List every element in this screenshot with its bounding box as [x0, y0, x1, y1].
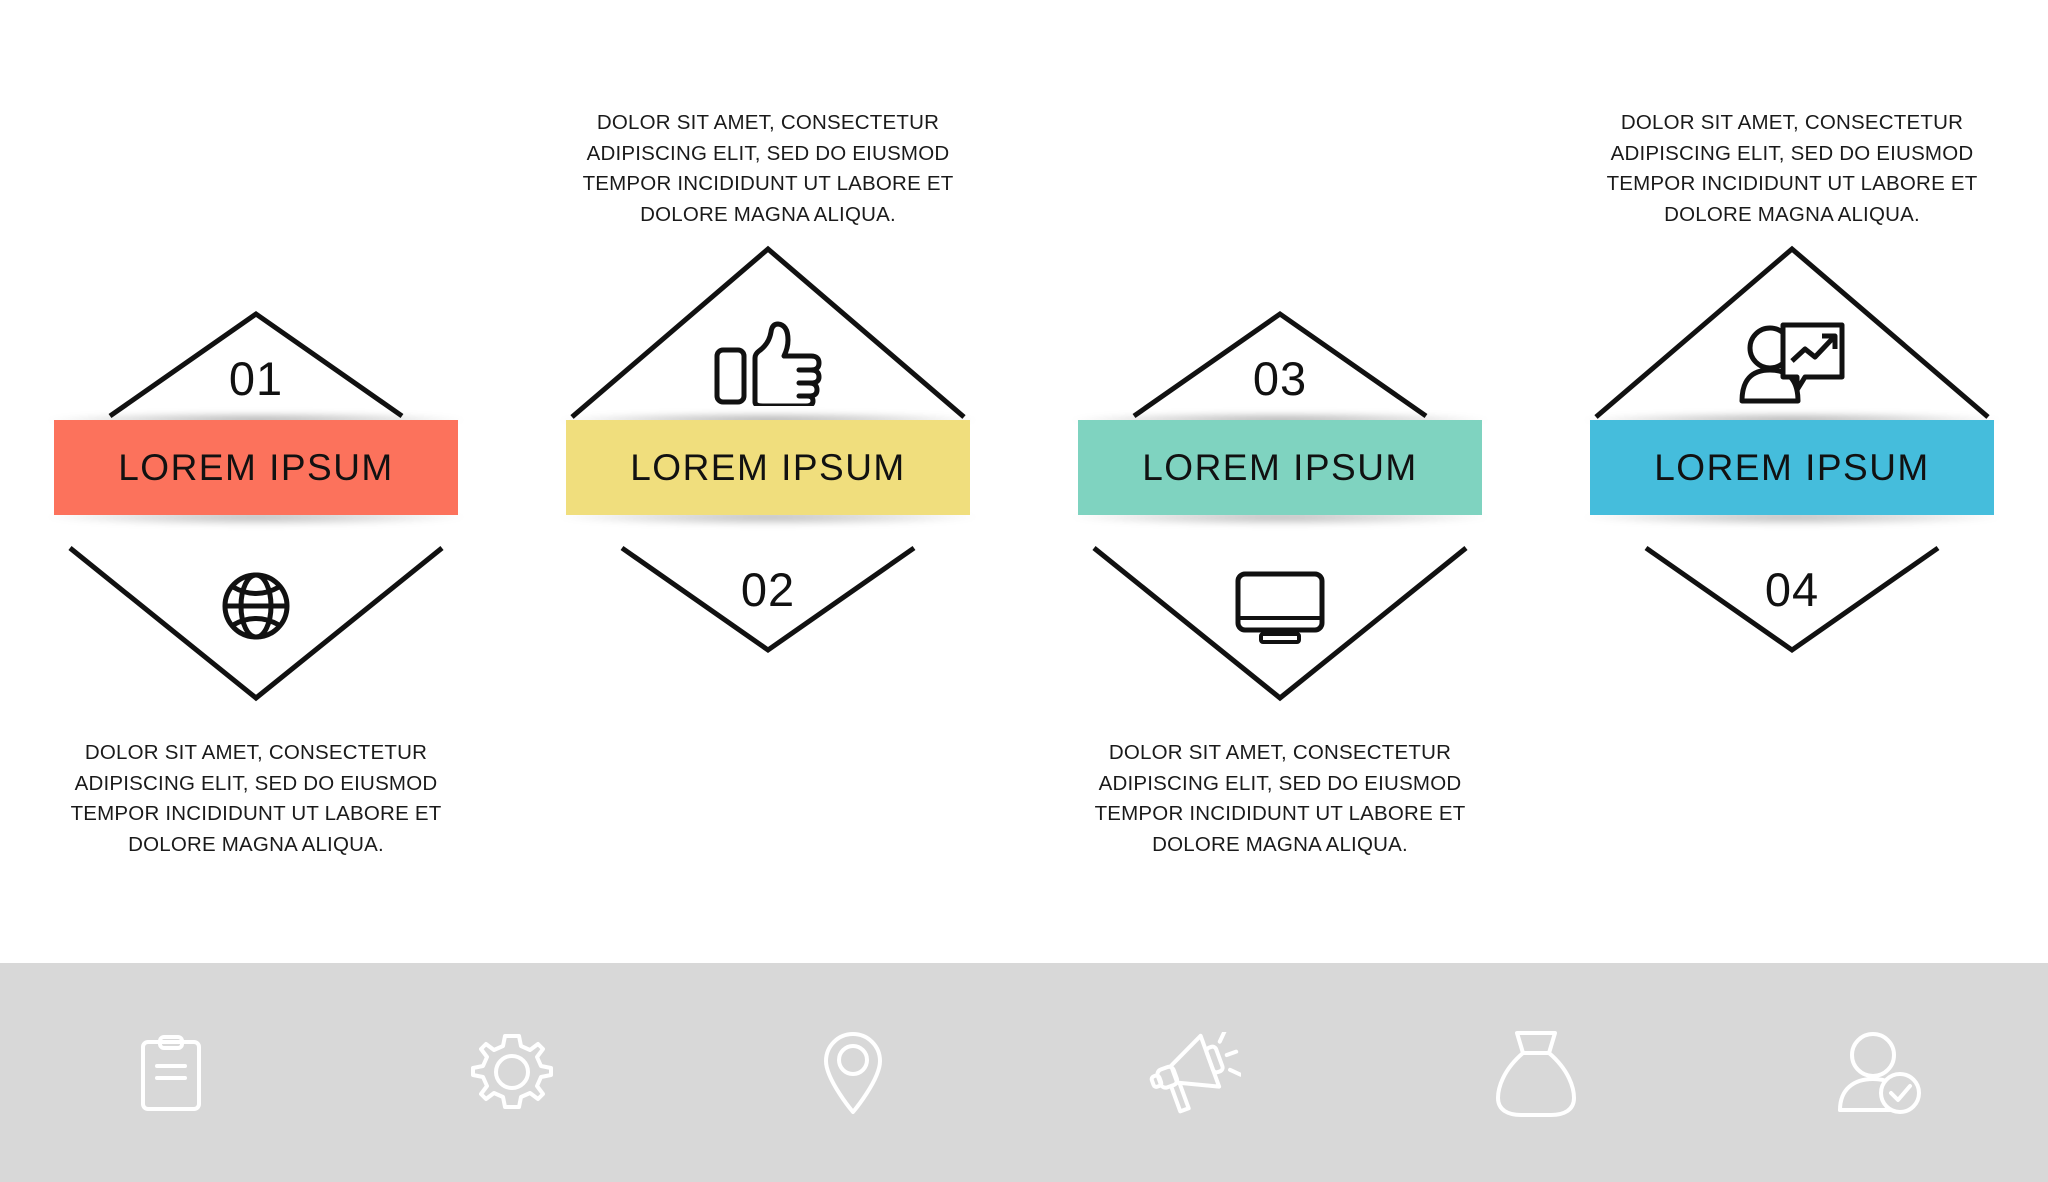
monitor-icon [1234, 570, 1326, 644]
clipboard-icon [140, 1034, 202, 1112]
megaphone-icon [1149, 1032, 1241, 1114]
panel-number-04: 04 [1765, 566, 1819, 613]
user-check-icon [1832, 1031, 1922, 1115]
panel-number-01: 01 [229, 355, 283, 402]
footer-item-user-check[interactable] [1707, 963, 2048, 1182]
footer-item-location[interactable] [683, 963, 1024, 1182]
panel-number-03: 03 [1253, 355, 1307, 402]
footer-item-gear[interactable] [341, 963, 682, 1182]
panel-text-04: DOLOR SIT AMET, CONSECTETUR ADIPISCING E… [1582, 108, 2002, 230]
panel-text-02: DOLOR SIT AMET, CONSECTETUR ADIPISCING E… [558, 108, 978, 230]
bar-label-01: LOREM IPSUM [118, 447, 394, 489]
infographic-canvas: 01 LOREM IPSUM DOLOR SIT AMET, CONSECTET… [0, 0, 2048, 1182]
panel-03[interactable]: 03 LOREM IPSUM DOLOR SIT AMET, CONSECTET… [1024, 0, 1536, 963]
gear-icon [471, 1032, 553, 1114]
panel-02[interactable]: DOLOR SIT AMET, CONSECTETUR ADIPISCING E… [512, 0, 1024, 963]
bar-label-02: LOREM IPSUM [630, 447, 906, 489]
presentation-person-icon [1737, 320, 1847, 404]
bar-label-04: LOREM IPSUM [1654, 447, 1930, 489]
panel-number-02: 02 [741, 566, 795, 613]
color-bar-02[interactable]: LOREM IPSUM [566, 420, 970, 515]
color-bar-01[interactable]: LOREM IPSUM [54, 420, 458, 515]
globe-icon [220, 570, 292, 642]
panel-text-01: DOLOR SIT AMET, CONSECTETUR ADIPISCING E… [46, 738, 466, 860]
color-bar-03[interactable]: LOREM IPSUM [1078, 420, 1482, 515]
panel-01[interactable]: 01 LOREM IPSUM DOLOR SIT AMET, CONSECTET… [0, 0, 512, 963]
footer-item-money-bag[interactable] [1365, 963, 1706, 1182]
money-bag-icon [1495, 1028, 1577, 1118]
footer-icon-bar [0, 963, 2048, 1182]
bar-label-03: LOREM IPSUM [1142, 447, 1418, 489]
panel-04[interactable]: DOLOR SIT AMET, CONSECTETUR ADIPISCING E… [1536, 0, 2048, 963]
footer-item-clipboard[interactable] [0, 963, 341, 1182]
footer-item-megaphone[interactable] [1024, 963, 1365, 1182]
color-bar-04[interactable]: LOREM IPSUM [1590, 420, 1994, 515]
thumbs-up-icon [713, 320, 823, 406]
map-pin-icon [821, 1030, 885, 1116]
panel-text-03: DOLOR SIT AMET, CONSECTETUR ADIPISCING E… [1070, 738, 1490, 860]
